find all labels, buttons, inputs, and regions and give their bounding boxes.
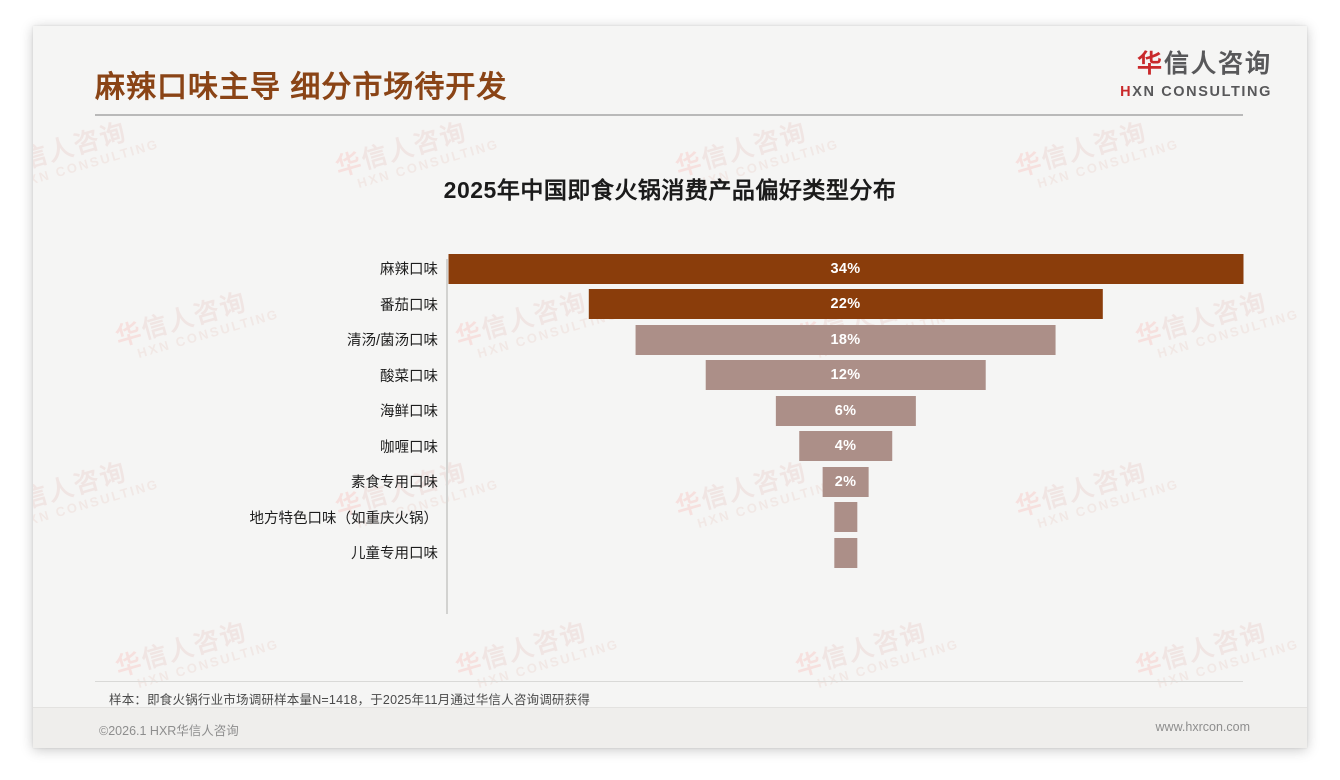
chart-bar-value: 22% bbox=[831, 296, 861, 312]
watermark: 华信人咨询HXN CONSULTING bbox=[453, 611, 621, 696]
watermark-chinese-rest: 信人咨询 bbox=[33, 118, 130, 175]
brand-logo-english-accent: H bbox=[1120, 84, 1132, 100]
funnel-chart: 麻辣口味34%番茄口味22%清汤/菌汤口味18%酸菜口味12%海鲜口味6%咖喱口… bbox=[95, 251, 1243, 616]
watermark-chinese-accent: 华 bbox=[113, 648, 147, 682]
title-divider bbox=[95, 114, 1243, 116]
chart-bar-track bbox=[448, 535, 1243, 571]
slide-header: 麻辣口味主导 细分市场待开发 华信人咨询 HXN CONSULTING bbox=[33, 26, 1307, 122]
brand-logo-chinese-rest: 信人咨询 bbox=[1164, 50, 1272, 78]
brand-logo-chinese-accent: 华 bbox=[1137, 50, 1164, 78]
chart-row-label: 儿童专用口味 bbox=[95, 542, 438, 563]
chart-bar[interactable] bbox=[834, 538, 857, 568]
sample-footnote: 样本：即食火锅行业市场调研样本量N=1418，于2025年11月通过华信人咨询调… bbox=[109, 689, 590, 708]
chart-bar-track: 6% bbox=[448, 393, 1243, 429]
chart-bar-track: 18% bbox=[448, 322, 1243, 358]
watermark-chinese: 华信人咨询 bbox=[113, 611, 277, 681]
chart-title: 2025年中国即食火锅消费产品偏好类型分布 bbox=[33, 171, 1307, 205]
watermark-chinese: 华信人咨询 bbox=[453, 611, 617, 681]
chart-bar-track: 4% bbox=[448, 429, 1243, 465]
page-title: 麻辣口味主导 细分市场待开发 bbox=[95, 62, 507, 106]
watermark-chinese-rest: 信人咨询 bbox=[819, 618, 931, 675]
chart-bar-value: 18% bbox=[831, 332, 861, 348]
watermark-chinese-rest: 信人咨询 bbox=[699, 118, 811, 175]
chart-bar-track: 22% bbox=[448, 287, 1243, 323]
watermark-english: HXN CONSULTING bbox=[816, 636, 961, 691]
chart-row: 麻辣口味34% bbox=[95, 251, 1243, 287]
chart-row-label: 海鲜口味 bbox=[95, 400, 438, 421]
chart-bar-value: 2% bbox=[835, 474, 857, 490]
watermark-chinese-accent: 华 bbox=[1133, 648, 1167, 682]
watermark: 华信人咨询HXN CONSULTING bbox=[113, 611, 281, 696]
slide-card: 华信人咨询HXN CONSULTING华信人咨询HXN CONSULTING华信… bbox=[33, 26, 1307, 748]
chart-row-label: 清汤/菌汤口味 bbox=[95, 329, 438, 350]
watermark-chinese-rest: 信人咨询 bbox=[1039, 118, 1151, 175]
website-link[interactable]: www.hxrcon.com bbox=[1156, 720, 1250, 734]
slide-footer-bar: ©2026.1 HXR华信人咨询 www.hxrcon.com bbox=[33, 707, 1307, 748]
chart-bar-value: 34% bbox=[831, 261, 861, 277]
watermark: 华信人咨询HXN CONSULTING bbox=[793, 611, 961, 696]
brand-logo-english-rest: XN CONSULTING bbox=[1132, 84, 1272, 100]
copyright-text: ©2026.1 HXR华信人咨询 bbox=[99, 720, 239, 739]
chart-rows: 麻辣口味34%番茄口味22%清汤/菌汤口味18%酸菜口味12%海鲜口味6%咖喱口… bbox=[95, 251, 1243, 571]
screenshot-root: 华信人咨询HXN CONSULTING华信人咨询HXN CONSULTING华信… bbox=[0, 0, 1340, 780]
chart-row: 儿童专用口味 bbox=[95, 535, 1243, 571]
chart-row: 清汤/菌汤口味18% bbox=[95, 322, 1243, 358]
chart-row: 番茄口味22% bbox=[95, 287, 1243, 323]
chart-bar[interactable] bbox=[834, 502, 857, 532]
chart-bar-track bbox=[448, 500, 1243, 536]
brand-logo-chinese: 华信人咨询 bbox=[1120, 52, 1272, 77]
footnote-divider bbox=[95, 681, 1243, 682]
watermark: 华信人咨询HXN CONSULTING bbox=[1133, 611, 1301, 696]
watermark-chinese: 华信人咨询 bbox=[793, 611, 957, 681]
watermark-chinese-accent: 华 bbox=[453, 648, 487, 682]
chart-row-label: 素食专用口味 bbox=[95, 471, 438, 492]
watermark-chinese-rest: 信人咨询 bbox=[359, 118, 471, 175]
watermark-chinese-accent: 华 bbox=[793, 648, 827, 682]
chart-row: 素食专用口味2% bbox=[95, 464, 1243, 500]
chart-row: 地方特色口味（如重庆火锅） bbox=[95, 500, 1243, 536]
brand-logo: 华信人咨询 HXN CONSULTING bbox=[1120, 52, 1272, 100]
chart-bar-value: 4% bbox=[835, 438, 857, 454]
chart-row-label: 番茄口味 bbox=[95, 294, 438, 315]
chart-row: 酸菜口味12% bbox=[95, 358, 1243, 394]
chart-bar[interactable]: 4% bbox=[799, 431, 893, 461]
chart-bar[interactable]: 2% bbox=[822, 467, 869, 497]
brand-logo-english: HXN CONSULTING bbox=[1120, 85, 1272, 100]
chart-bar[interactable]: 22% bbox=[588, 289, 1102, 319]
watermark-chinese-rest: 信人咨询 bbox=[1159, 618, 1271, 675]
chart-row-label: 地方特色口味（如重庆火锅） bbox=[95, 507, 438, 528]
watermark-english: HXN CONSULTING bbox=[136, 636, 281, 691]
chart-bar[interactable]: 6% bbox=[775, 396, 915, 426]
chart-row: 咖喱口味4% bbox=[95, 429, 1243, 465]
chart-bar-track: 12% bbox=[448, 358, 1243, 394]
chart-bar-value: 6% bbox=[835, 403, 857, 419]
chart-row-label: 咖喱口味 bbox=[95, 436, 438, 457]
watermark-chinese-rest: 信人咨询 bbox=[479, 618, 591, 675]
chart-bar-value: 12% bbox=[831, 367, 861, 383]
chart-bar-track: 2% bbox=[448, 464, 1243, 500]
chart-row: 海鲜口味6% bbox=[95, 393, 1243, 429]
watermark-english: HXN CONSULTING bbox=[476, 636, 621, 691]
chart-bar[interactable]: 12% bbox=[705, 360, 986, 390]
chart-bar-track: 34% bbox=[448, 251, 1243, 287]
watermark-chinese-rest: 信人咨询 bbox=[139, 618, 251, 675]
chart-row-label: 麻辣口味 bbox=[95, 258, 438, 279]
chart-bar[interactable]: 34% bbox=[448, 254, 1243, 284]
watermark-chinese: 华信人咨询 bbox=[1133, 611, 1297, 681]
chart-row-label: 酸菜口味 bbox=[95, 365, 438, 386]
watermark-english: HXN CONSULTING bbox=[1156, 636, 1301, 691]
chart-bar[interactable]: 18% bbox=[635, 325, 1056, 355]
